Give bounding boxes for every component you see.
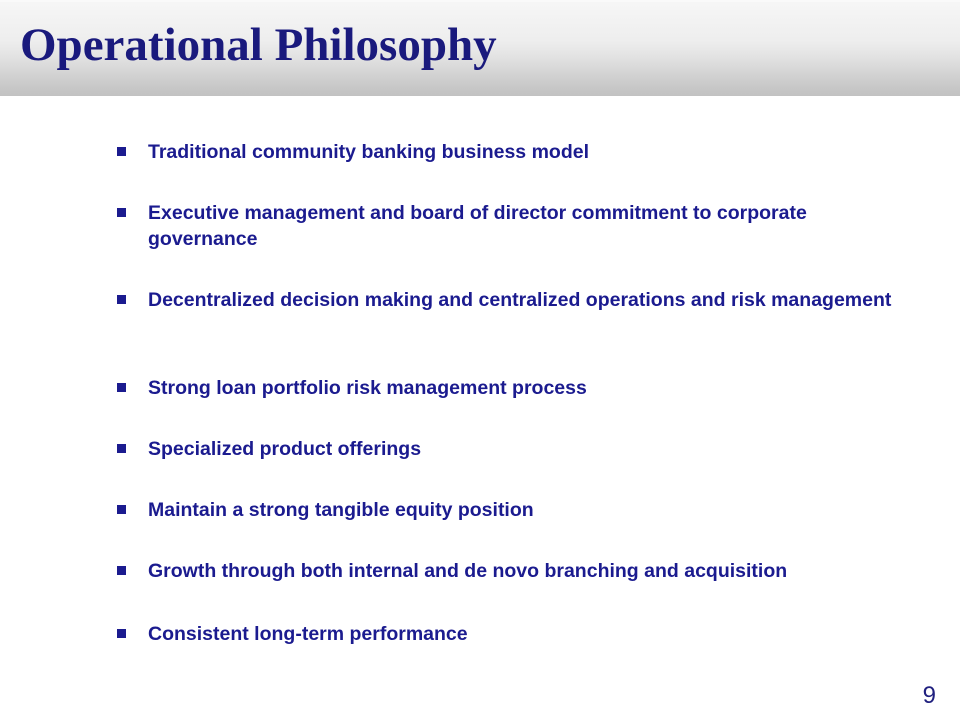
list-item-label: Traditional community banking business m… <box>148 139 917 165</box>
list-item-label: Decentralized decision making and centra… <box>148 287 917 313</box>
square-bullet-icon <box>117 444 126 453</box>
list-item: Specialized product offerings <box>117 436 917 462</box>
list-item: Strong loan portfolio risk management pr… <box>117 375 917 401</box>
square-bullet-icon <box>117 295 126 304</box>
page-number: 9 <box>923 682 936 710</box>
square-bullet-icon <box>117 147 126 156</box>
list-item: Traditional community banking business m… <box>117 139 917 165</box>
list-item: Consistent long-term performance <box>117 621 917 647</box>
list-item: Decentralized decision making and centra… <box>117 287 917 313</box>
list-item-label: Consistent long-term performance <box>148 621 917 647</box>
list-item: Growth through both internal and de novo… <box>117 558 917 584</box>
list-item-label: Maintain a strong tangible equity positi… <box>148 497 917 523</box>
square-bullet-icon <box>117 629 126 638</box>
slide: Operational Philosophy Traditional commu… <box>0 0 960 720</box>
square-bullet-icon <box>117 566 126 575</box>
list-item-label: Specialized product offerings <box>148 436 917 462</box>
square-bullet-icon <box>117 505 126 514</box>
list-item: Executive management and board of direct… <box>117 200 917 252</box>
square-bullet-icon <box>117 383 126 392</box>
list-item-label: Strong loan portfolio risk management pr… <box>148 375 917 401</box>
list-item-label: Executive management and board of direct… <box>148 200 917 252</box>
list-item-label: Growth through both internal and de novo… <box>148 558 917 584</box>
square-bullet-icon <box>117 208 126 217</box>
header-top-highlight-line <box>0 0 960 2</box>
list-item: Maintain a strong tangible equity positi… <box>117 497 917 523</box>
page-title: Operational Philosophy <box>20 17 497 73</box>
